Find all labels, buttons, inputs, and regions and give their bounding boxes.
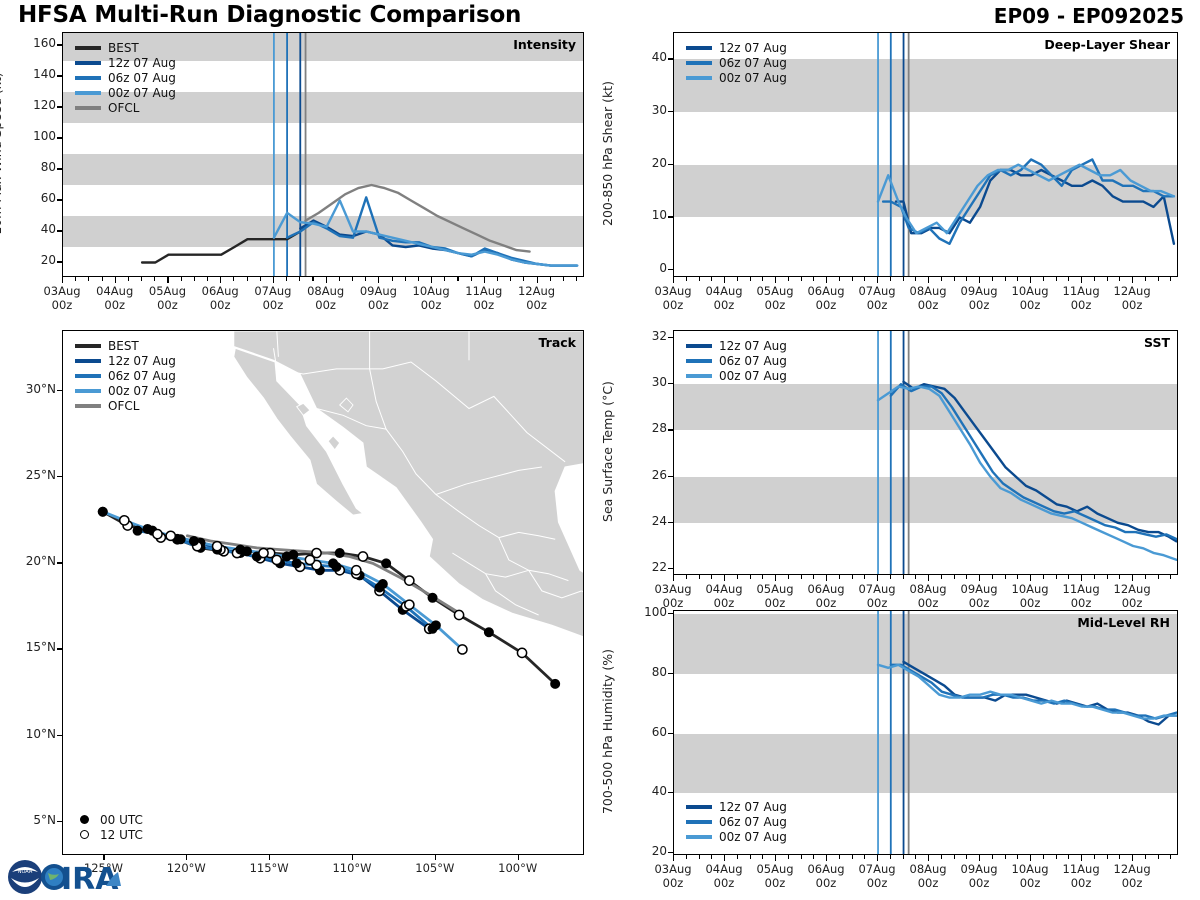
x-tick-mark: [979, 855, 980, 861]
track-point-marker: [517, 648, 526, 657]
lat-tick-label: 5°N: [6, 813, 56, 827]
x-tick-mark: [915, 855, 916, 859]
x-tick-mark: [966, 575, 967, 579]
x-tick-mark: [737, 855, 738, 859]
x-tick-mark: [1030, 855, 1031, 861]
y-tick-label: 120: [18, 98, 56, 112]
x-tick-mark: [813, 575, 814, 579]
lat-tick-label: 20°N: [6, 554, 56, 568]
x-tick-mark: [1030, 575, 1031, 581]
lat-tick-mark: [57, 648, 62, 649]
x-tick-label: 12Aug00z: [1092, 863, 1172, 890]
x-tick-mark: [537, 277, 538, 283]
track-point-marker: [352, 566, 361, 575]
x-tick-mark: [801, 855, 802, 859]
y-tick-label: 140: [18, 67, 56, 81]
x-tick-mark: [365, 277, 366, 281]
x-tick-mark: [737, 277, 738, 281]
x-tick-mark: [1081, 575, 1082, 581]
legend-color-swatch: [75, 389, 101, 393]
x-tick-mark: [444, 277, 445, 281]
y-tick-label: 100: [629, 605, 667, 619]
x-tick-mark: [788, 277, 789, 281]
y-tick-label: 10: [629, 208, 667, 222]
x-tick-mark: [826, 277, 827, 283]
legend-label: BEST: [108, 339, 139, 353]
x-tick-mark: [154, 277, 155, 281]
track-point-marker: [484, 628, 493, 637]
x-tick-mark: [405, 277, 406, 281]
lat-tick-label: 15°N: [6, 640, 56, 654]
lon-tick-label: 115°W: [229, 862, 309, 876]
x-tick-mark: [1005, 277, 1006, 281]
y-tick-mark: [57, 75, 62, 76]
x-tick-mark: [1170, 855, 1171, 859]
x-tick-mark: [686, 277, 687, 281]
series-line: [891, 384, 1177, 539]
x-tick-mark: [1094, 575, 1095, 579]
legend-item: 00z 07 Aug: [75, 383, 176, 398]
y-tick-mark: [57, 168, 62, 169]
legend-color-swatch: [686, 46, 712, 50]
sst-panel-label: SST: [1144, 335, 1170, 350]
x-tick-mark: [1145, 277, 1146, 281]
x-tick-mark: [1158, 855, 1159, 859]
track-point-marker: [305, 555, 314, 564]
track-panel-label: Track: [539, 335, 576, 350]
track-point-marker: [382, 559, 391, 568]
x-tick-mark: [724, 575, 725, 581]
y-tick-label: 40: [629, 50, 667, 64]
shear-panel-label: Deep-Layer Shear: [1044, 37, 1170, 52]
y-tick-mark: [668, 852, 673, 853]
y-tick-label: 30: [629, 103, 667, 117]
x-tick-mark: [471, 277, 472, 281]
cira-wordmark: IRA: [41, 862, 121, 897]
track-point-marker: [143, 524, 152, 533]
y-tick-label: 22: [629, 560, 667, 574]
sst-plot-area: SST12z 07 Aug06z 07 Aug00z 07 Aug: [673, 330, 1178, 575]
x-tick-mark: [699, 575, 700, 579]
y-tick-mark: [57, 44, 62, 45]
marker-legend-item: 12 UTC: [73, 827, 143, 842]
x-tick-mark: [954, 855, 955, 859]
x-tick-mark: [1158, 575, 1159, 579]
filled-circle-icon: [80, 815, 89, 824]
track-point-marker: [335, 548, 344, 557]
legend-color-swatch: [686, 76, 712, 80]
x-tick-mark: [992, 855, 993, 859]
x-tick-mark: [1107, 277, 1108, 281]
rh-legend: 12z 07 Aug06z 07 Aug00z 07 Aug: [686, 799, 787, 844]
legend-item: OFCL: [75, 398, 176, 413]
x-tick-mark: [1119, 855, 1120, 859]
y-tick-label: 40: [629, 784, 667, 798]
x-tick-mark: [788, 855, 789, 859]
y-tick-label: 26: [629, 468, 667, 482]
x-tick-mark: [979, 575, 980, 581]
x-tick-mark: [966, 855, 967, 859]
y-tick-mark: [57, 199, 62, 200]
x-tick-mark: [141, 277, 142, 281]
x-tick-mark: [1056, 575, 1057, 579]
y-tick-mark: [57, 106, 62, 107]
x-tick-mark: [711, 277, 712, 281]
x-tick-mark: [1017, 277, 1018, 281]
legend-color-swatch: [75, 106, 101, 110]
x-tick-mark: [686, 855, 687, 859]
track-point-marker: [458, 645, 467, 654]
legend-label: 00z 07 Aug: [719, 369, 787, 383]
x-tick-mark: [954, 277, 955, 281]
x-tick-label: 12Aug00z: [1092, 583, 1172, 610]
legend-label: 00z 07 Aug: [108, 86, 176, 100]
y-tick-mark: [668, 111, 673, 112]
x-tick-mark: [673, 575, 674, 581]
panel-sst: SST12z 07 Aug06z 07 Aug00z 07 Aug2224262…: [673, 330, 1178, 575]
series-line: [878, 387, 1176, 560]
y-tick-label: 0: [629, 261, 667, 275]
open-circle-icon: [80, 830, 89, 839]
x-tick-mark: [1132, 277, 1133, 283]
y-tick-label: 100: [18, 129, 56, 143]
legend-color-swatch: [686, 344, 712, 348]
lon-tick-label: 110°W: [312, 862, 392, 876]
x-tick-mark: [737, 575, 738, 579]
y-tick-label: 60: [18, 191, 56, 205]
track-marker-legend: 00 UTC12 UTC: [73, 812, 143, 842]
x-tick-mark: [903, 855, 904, 859]
x-tick-mark: [928, 575, 929, 581]
x-tick-mark: [550, 277, 551, 281]
cira-noaa-logo: NOAA IRA: [6, 856, 124, 898]
y-tick-mark: [57, 261, 62, 262]
panel-track: TrackBEST12z 07 Aug06z 07 Aug00z 07 AugO…: [62, 330, 584, 855]
x-tick-mark: [576, 277, 577, 281]
y-tick-mark: [668, 216, 673, 217]
shear-y-axis-label: 200-850 hPa Shear (kt): [600, 31, 615, 276]
legend-label: BEST: [108, 41, 139, 55]
x-tick-mark: [299, 277, 300, 281]
x-tick-mark: [339, 277, 340, 281]
series-line: [287, 197, 577, 265]
legend-item: 12z 07 Aug: [75, 353, 176, 368]
legend-color-swatch: [75, 344, 101, 348]
x-tick-mark: [1005, 575, 1006, 579]
panel-shear: Deep-Layer Shear12z 07 Aug06z 07 Aug00z …: [673, 32, 1178, 277]
x-tick-mark: [181, 277, 182, 281]
x-tick-mark: [1017, 855, 1018, 859]
x-tick-mark: [326, 277, 327, 283]
x-tick-mark: [260, 277, 261, 281]
y-tick-mark: [668, 476, 673, 477]
legend-label: 06z 07 Aug: [719, 354, 787, 368]
x-tick-mark: [1081, 855, 1082, 861]
panel-rh: Mid-Level RH12z 07 Aug06z 07 Aug00z 07 A…: [673, 610, 1178, 855]
legend-item: 00z 07 Aug: [686, 829, 787, 844]
track-point-marker: [133, 526, 142, 535]
sst-legend: 12z 07 Aug06z 07 Aug00z 07 Aug: [686, 338, 787, 383]
x-tick-mark: [801, 277, 802, 281]
x-tick-mark: [788, 575, 789, 579]
x-tick-mark: [992, 277, 993, 281]
y-tick-label: 24: [629, 514, 667, 528]
x-tick-mark: [1145, 855, 1146, 859]
intensity-y-axis-label: 10m Max Wind Speed (kt): [0, 31, 4, 276]
x-tick-mark: [686, 575, 687, 579]
legend-label: 06z 07 Aug: [108, 71, 176, 85]
x-tick-mark: [286, 277, 287, 281]
legend-color-swatch: [686, 820, 712, 824]
x-tick-mark: [750, 855, 751, 859]
legend-color-swatch: [75, 76, 101, 80]
track-point-marker: [378, 579, 387, 588]
y-tick-label: 80: [18, 160, 56, 174]
x-tick-mark: [928, 277, 929, 283]
y-tick-mark: [668, 164, 673, 165]
legend-label: 06z 07 Aug: [719, 815, 787, 829]
intensity-panel-label: Intensity: [513, 37, 576, 52]
track-point-marker: [236, 545, 245, 554]
legend-color-swatch: [686, 805, 712, 809]
x-tick-mark: [1005, 855, 1006, 859]
x-tick-label: 12Aug00z: [497, 285, 577, 312]
panel-intensity: IntensityBEST12z 07 Aug06z 07 Aug00z 07 …: [62, 32, 584, 277]
y-tick-label: 40: [18, 222, 56, 236]
legend-item: 12z 07 Aug: [686, 799, 787, 814]
x-tick-mark: [207, 277, 208, 281]
x-tick-mark: [1119, 277, 1120, 281]
track-line: [138, 531, 433, 629]
x-tick-mark: [711, 575, 712, 579]
x-tick-mark: [852, 277, 853, 281]
rh-panel-label: Mid-Level RH: [1077, 615, 1170, 630]
x-tick-mark: [352, 277, 353, 281]
y-tick-mark: [668, 337, 673, 338]
x-tick-mark: [1094, 855, 1095, 859]
legend-label: 12z 07 Aug: [719, 339, 787, 353]
y-tick-label: 20: [18, 253, 56, 267]
svg-text:NOAA: NOAA: [18, 869, 33, 875]
y-tick-label: 80: [629, 665, 667, 679]
x-tick-mark: [1043, 277, 1044, 281]
legend-label: 12z 07 Aug: [719, 800, 787, 814]
y-tick-mark: [668, 522, 673, 523]
lon-tick-label: 100°W: [478, 862, 558, 876]
x-tick-mark: [75, 277, 76, 281]
track-point-marker: [259, 548, 268, 557]
legend-label: 06z 07 Aug: [719, 56, 787, 70]
track-plot-area: TrackBEST12z 07 Aug06z 07 Aug00z 07 AugO…: [62, 330, 584, 855]
y-tick-mark: [668, 568, 673, 569]
legend-label: OFCL: [108, 399, 139, 413]
x-tick-mark: [392, 277, 393, 281]
x-tick-mark: [1119, 575, 1120, 579]
x-tick-mark: [941, 855, 942, 859]
x-tick-mark: [1145, 575, 1146, 579]
lon-tick-label: 120°W: [146, 862, 226, 876]
x-tick-mark: [510, 277, 511, 281]
y-tick-mark: [668, 269, 673, 270]
legend-item: 06z 07 Aug: [75, 70, 176, 85]
x-tick-mark: [724, 855, 725, 861]
x-tick-mark: [1132, 575, 1133, 581]
x-tick-mark: [711, 855, 712, 859]
lon-tick-mark: [352, 855, 353, 860]
logo-graphic: NOAA IRA: [6, 856, 124, 898]
shear-plot-area: Deep-Layer Shear12z 07 Aug06z 07 Aug00z …: [673, 32, 1178, 277]
x-tick-mark: [724, 277, 725, 283]
legend-color-swatch: [686, 359, 712, 363]
x-tick-mark: [750, 277, 751, 281]
track-point-marker: [454, 610, 463, 619]
track-point-marker: [120, 516, 129, 525]
x-tick-mark: [801, 575, 802, 579]
rh-y-axis-label: 700-500 hPa Humidity (%): [600, 609, 615, 854]
x-tick-mark: [102, 277, 103, 281]
y-tick-mark: [668, 733, 673, 734]
x-tick-mark: [890, 277, 891, 281]
x-tick-mark: [194, 277, 195, 281]
x-tick-mark: [762, 277, 763, 281]
legend-item: 12z 07 Aug: [686, 338, 787, 353]
track-point-marker: [189, 536, 198, 545]
legend-item: BEST: [75, 40, 176, 55]
track-point-marker: [153, 530, 162, 539]
lon-tick-mark: [435, 855, 436, 860]
x-tick-mark: [852, 855, 853, 859]
lat-tick-mark: [57, 476, 62, 477]
x-tick-mark: [775, 277, 776, 283]
x-tick-mark: [979, 277, 980, 283]
rh-plot-area: Mid-Level RH12z 07 Aug06z 07 Aug00z 07 A…: [673, 610, 1178, 855]
legend-item: 12z 07 Aug: [75, 55, 176, 70]
track-point-marker: [405, 576, 414, 585]
marker-legend-label: 00 UTC: [100, 813, 143, 827]
legend-label: 12z 07 Aug: [719, 41, 787, 55]
x-tick-mark: [220, 277, 221, 283]
lat-tick-label: 25°N: [6, 468, 56, 482]
x-tick-mark: [378, 277, 379, 283]
track-point-marker: [282, 552, 291, 561]
lon-tick-mark: [518, 855, 519, 860]
legend-item: 00z 07 Aug: [75, 85, 176, 100]
x-tick-mark: [915, 575, 916, 579]
lon-tick-mark: [269, 855, 270, 860]
track-point-marker: [292, 559, 301, 568]
track-point-marker: [213, 542, 222, 551]
x-tick-mark: [864, 855, 865, 859]
y-tick-label: 32: [629, 329, 667, 343]
y-tick-mark: [668, 58, 673, 59]
legend-label: 00z 07 Aug: [719, 71, 787, 85]
y-tick-mark: [668, 792, 673, 793]
series-line: [300, 221, 577, 266]
track-point-marker: [166, 531, 175, 540]
lon-tick-mark: [186, 855, 187, 860]
marker-legend-label: 12 UTC: [100, 828, 143, 842]
x-tick-mark: [903, 575, 904, 579]
x-tick-mark: [877, 575, 878, 581]
x-tick-mark: [1017, 575, 1018, 579]
x-tick-mark: [1094, 277, 1095, 281]
x-tick-mark: [563, 277, 564, 281]
legend-label: 00z 07 Aug: [108, 384, 176, 398]
track-point-marker: [431, 621, 440, 630]
lat-tick-mark: [57, 390, 62, 391]
x-tick-mark: [915, 277, 916, 281]
legend-color-swatch: [75, 91, 101, 95]
track-point-marker: [358, 552, 367, 561]
x-tick-mark: [890, 855, 891, 859]
x-tick-mark: [877, 855, 878, 861]
x-tick-mark: [890, 575, 891, 579]
track-legend: BEST12z 07 Aug06z 07 Aug00z 07 AugOFCL: [75, 338, 176, 413]
track-point-marker: [98, 507, 107, 516]
x-tick-mark: [826, 575, 827, 581]
x-tick-mark: [673, 277, 674, 283]
x-tick-mark: [247, 277, 248, 281]
x-tick-mark: [954, 575, 955, 579]
x-tick-mark: [864, 277, 865, 281]
x-tick-mark: [62, 277, 63, 283]
x-tick-mark: [233, 277, 234, 281]
x-tick-mark: [1158, 277, 1159, 281]
legend-item: OFCL: [75, 100, 176, 115]
x-tick-mark: [88, 277, 89, 281]
x-tick-mark: [839, 277, 840, 281]
x-tick-mark: [762, 575, 763, 579]
x-tick-mark: [992, 575, 993, 579]
x-tick-mark: [775, 855, 776, 861]
x-tick-mark: [1056, 855, 1057, 859]
x-tick-mark: [1056, 277, 1057, 281]
legend-item: 00z 07 Aug: [686, 368, 787, 383]
y-tick-mark: [668, 383, 673, 384]
legend-color-swatch: [686, 835, 712, 839]
y-tick-mark: [57, 230, 62, 231]
x-tick-mark: [1030, 277, 1031, 283]
x-tick-mark: [1132, 855, 1133, 861]
x-tick-mark: [431, 277, 432, 283]
legend-color-swatch: [75, 46, 101, 50]
x-tick-mark: [699, 855, 700, 859]
noaa-seal-icon: NOAA: [8, 860, 42, 894]
x-tick-mark: [457, 277, 458, 281]
lat-tick-mark: [57, 735, 62, 736]
x-tick-mark: [941, 277, 942, 281]
legend-label: 12z 07 Aug: [108, 354, 176, 368]
legend-color-swatch: [75, 359, 101, 363]
legend-label: 12z 07 Aug: [108, 56, 176, 70]
x-tick-mark: [966, 277, 967, 281]
x-tick-mark: [312, 277, 313, 281]
x-tick-mark: [115, 277, 116, 283]
track-point-marker: [272, 555, 281, 564]
lon-tick-label: 105°W: [395, 862, 475, 876]
x-tick-mark: [826, 855, 827, 861]
x-tick-mark: [750, 575, 751, 579]
y-tick-label: 160: [18, 36, 56, 50]
intensity-plot-area: IntensityBEST12z 07 Aug06z 07 Aug00z 07 …: [62, 32, 584, 277]
legend-color-swatch: [686, 374, 712, 378]
x-tick-mark: [1107, 855, 1108, 859]
track-point-marker: [551, 679, 560, 688]
x-tick-mark: [852, 575, 853, 579]
x-tick-mark: [941, 575, 942, 579]
x-tick-label: 12Aug00z: [1092, 285, 1172, 312]
y-tick-mark: [668, 613, 673, 614]
